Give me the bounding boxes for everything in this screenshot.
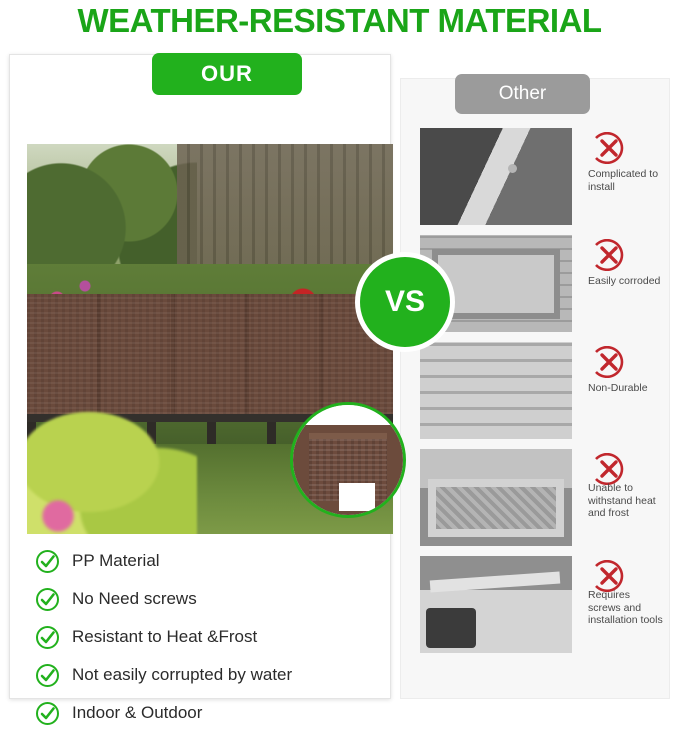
- red-x-cross-icon: [593, 239, 625, 271]
- vs-badge: VS: [360, 257, 450, 347]
- other-thumbnail: [420, 556, 572, 653]
- list-item: Easily corroded: [420, 235, 660, 332]
- green-check-icon: [36, 664, 59, 687]
- feature-label: Not easily corrupted by water: [72, 665, 292, 685]
- other-item-label: Non-Durable: [588, 382, 664, 395]
- other-item-label: Easily corroded: [588, 275, 664, 288]
- other-thumbnail: [420, 449, 572, 546]
- list-item: Requires screws and installation tools: [420, 556, 660, 653]
- feature-label: Resistant to Heat &Frost: [72, 627, 257, 647]
- feature-label: No Need screws: [72, 589, 197, 609]
- other-badge: Other: [455, 74, 590, 114]
- list-item: No Need screws: [36, 582, 386, 616]
- red-x-cross-icon: [593, 132, 625, 164]
- list-item: Resistant to Heat &Frost: [36, 620, 386, 654]
- list-item: Complicated to install: [420, 128, 660, 225]
- list-item: Indoor & Outdoor: [36, 696, 386, 730]
- other-thumbnail: [420, 128, 572, 225]
- our-badge: OUR: [152, 53, 302, 95]
- list-item: PP Material: [36, 544, 386, 578]
- red-x-cross-icon: [593, 453, 625, 485]
- feature-label: Indoor & Outdoor: [72, 703, 202, 723]
- inset-planter-opening: [339, 483, 375, 511]
- other-thumbnail: [420, 342, 572, 439]
- other-item-label: Requires screws and installation tools: [588, 589, 664, 627]
- other-item-label: Unable to withstand heat and frost: [588, 482, 664, 520]
- green-check-icon: [36, 626, 59, 649]
- list-item: Non-Durable: [420, 342, 660, 439]
- list-item: Unable to withstand heat and frost: [420, 449, 660, 546]
- green-check-icon: [36, 550, 59, 573]
- product-detail-inset: [290, 402, 406, 518]
- photo-trees: [27, 144, 197, 284]
- page-title: WEATHER-RESISTANT MATERIAL: [0, 2, 679, 40]
- other-item-label: Complicated to install: [588, 168, 664, 193]
- photo-foreground-flower: [31, 496, 85, 534]
- list-item: Not easily corrupted by water: [36, 658, 386, 692]
- feature-label: PP Material: [72, 551, 160, 571]
- red-x-cross-icon: [593, 560, 625, 592]
- red-x-cross-icon: [593, 346, 625, 378]
- green-check-icon: [36, 588, 59, 611]
- our-product-panel: PP Material No Need screws Resistant to …: [9, 54, 391, 699]
- green-check-icon: [36, 702, 59, 725]
- inset-planter-closeup: [309, 433, 387, 501]
